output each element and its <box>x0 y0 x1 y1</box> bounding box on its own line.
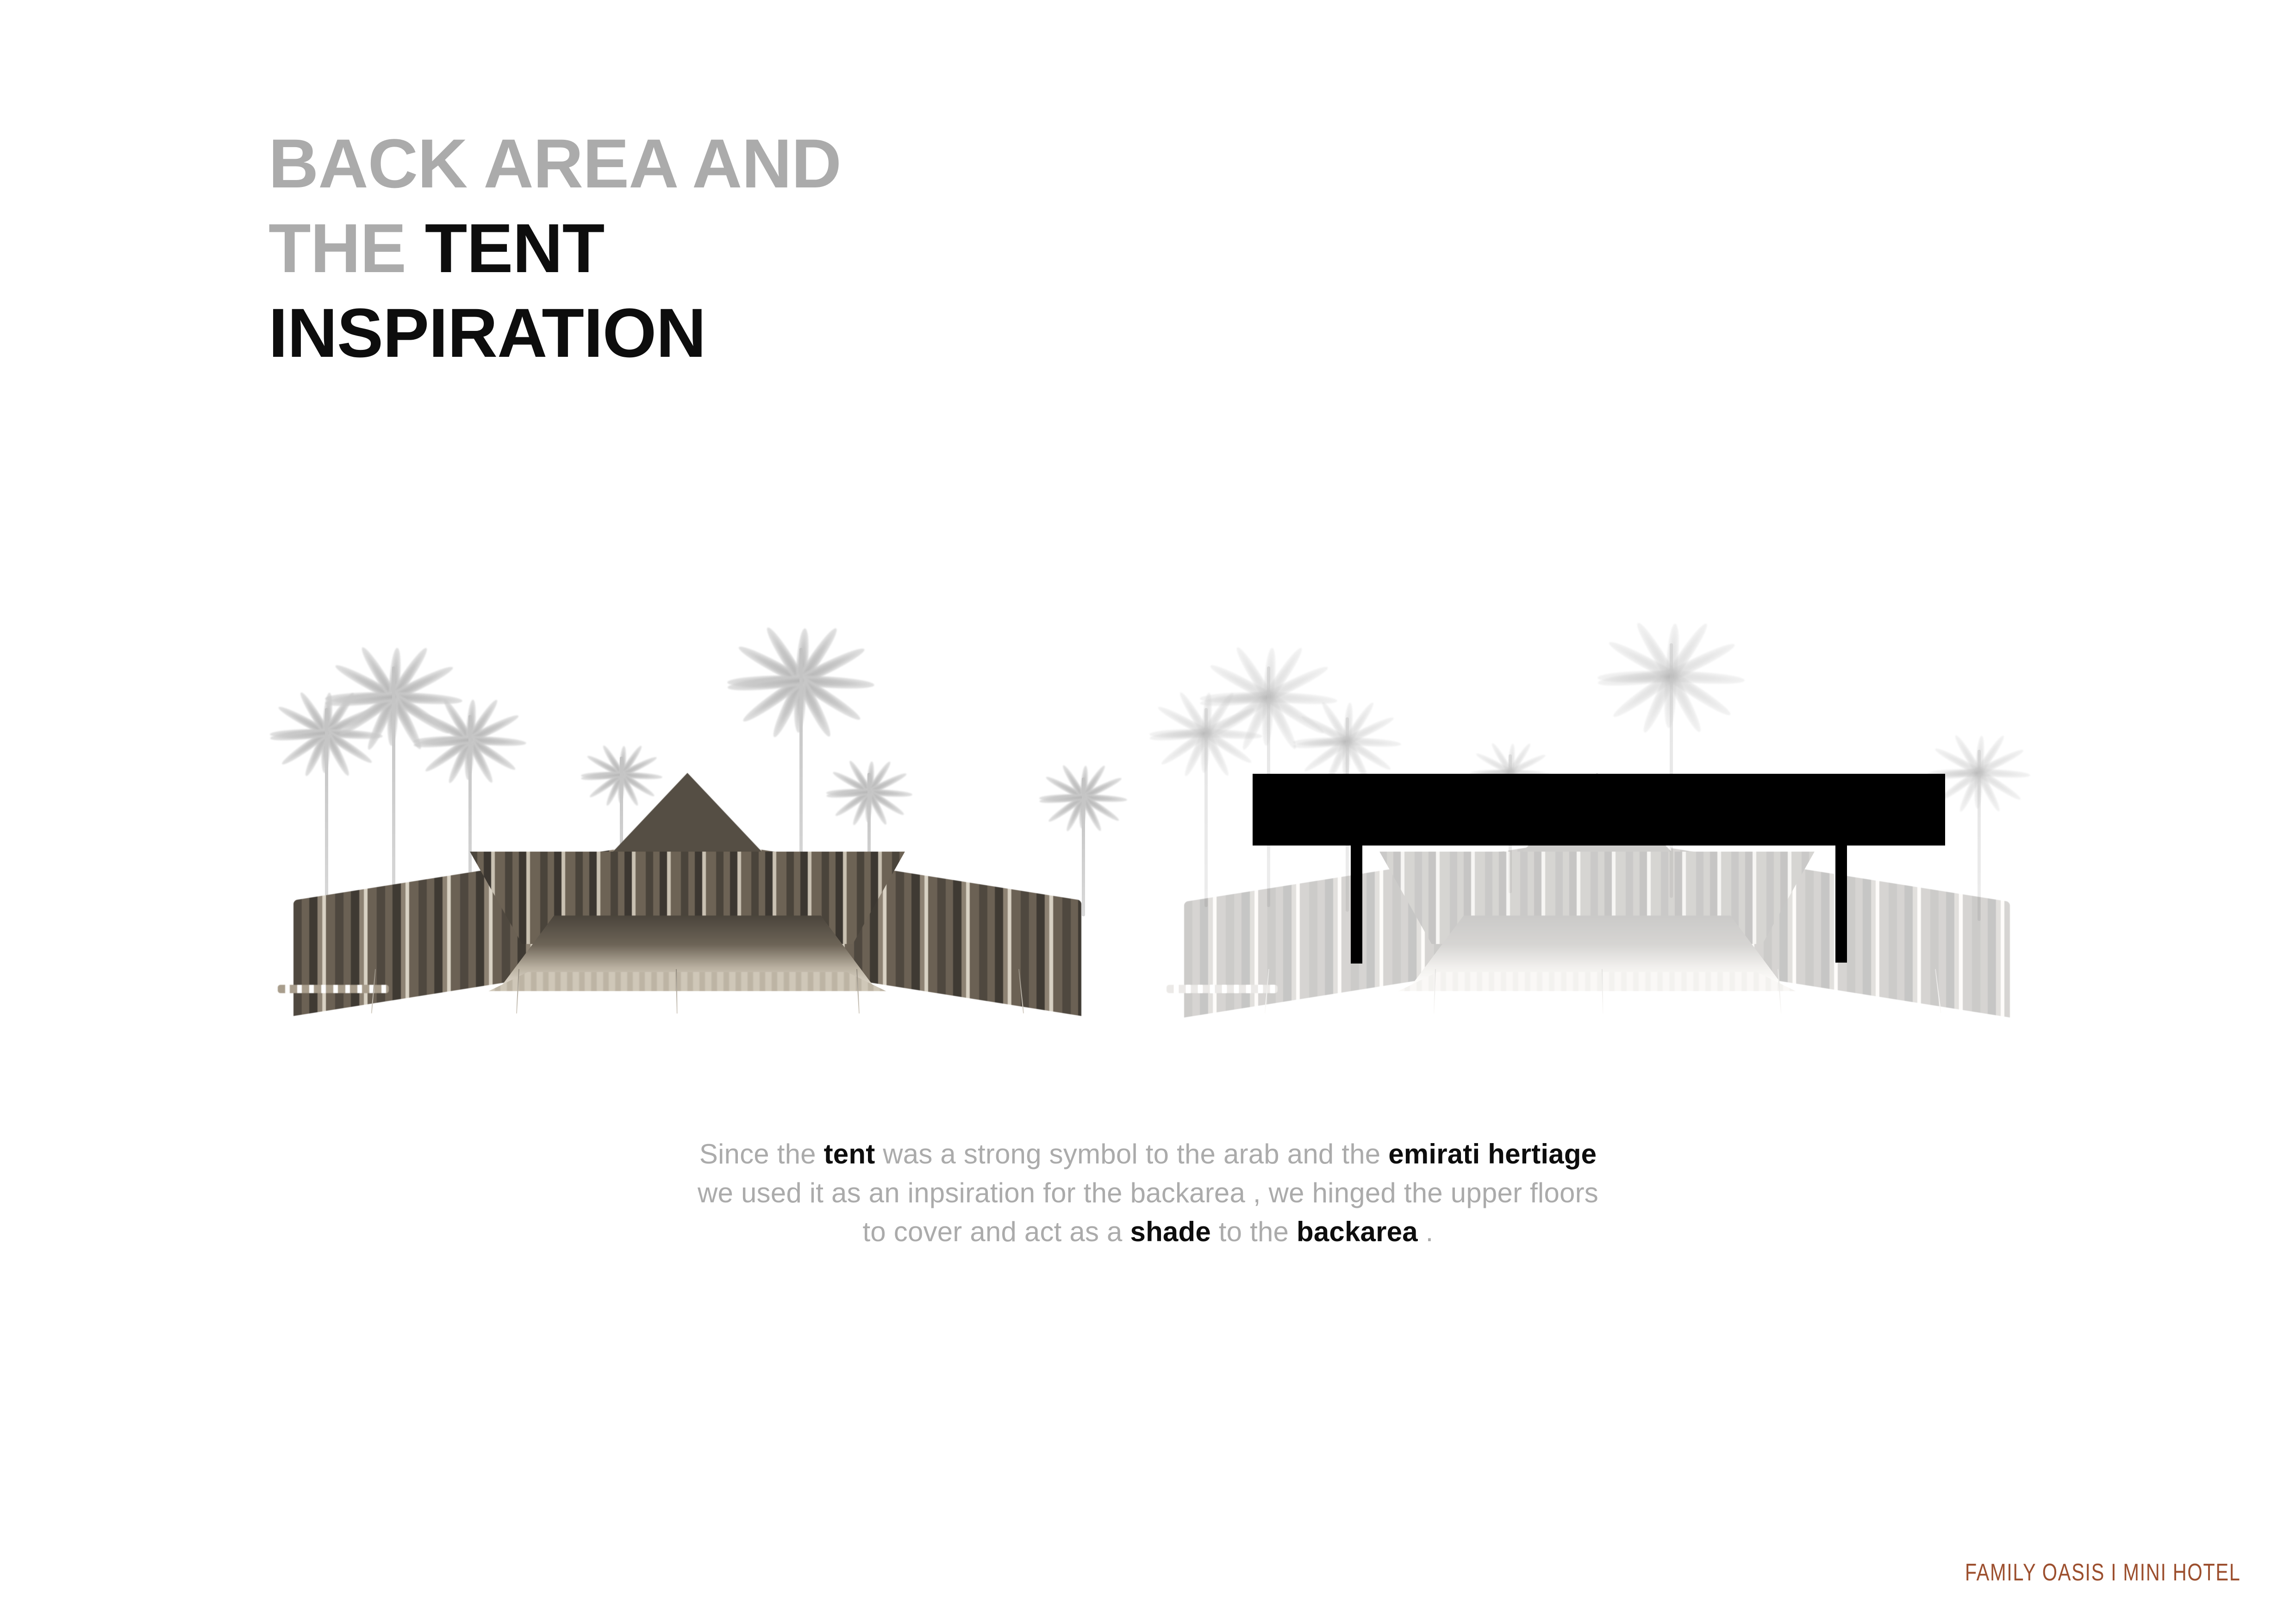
body-line-3: to cover and act as a shade to the backa… <box>407 1213 1889 1251</box>
title-line-1-text: BACK AREA AND <box>268 124 841 202</box>
body-keyword-backarea: backarea <box>1297 1216 1418 1247</box>
tent-peg-row-left <box>1167 985 1278 993</box>
body-line-3-seg-e: . <box>1418 1216 1434 1247</box>
body-line-1: Since the tent was a strong symbol to th… <box>407 1135 1889 1174</box>
body-line-3-seg-c: to the <box>1211 1216 1297 1247</box>
shade-slab-overlay <box>1253 774 1945 846</box>
body-keyword-emirati-heritage: emirati hertiage <box>1388 1138 1597 1169</box>
shade-column-left <box>1351 846 1362 964</box>
title-line-2: THE TENT <box>268 206 1055 291</box>
body-line-1-seg-c: was a strong symbol to the arab and the <box>875 1138 1388 1169</box>
tent-floor <box>1398 972 1796 991</box>
body-line-3-seg-a: to cover and act as a <box>862 1216 1130 1247</box>
title-line-1: BACK AREA AND <box>268 121 1055 206</box>
body-keyword-shade: shade <box>1130 1216 1211 1247</box>
title-line-3: INSPIRATION <box>268 291 1055 375</box>
image-zone <box>0 639 2296 1014</box>
tent-floor <box>488 972 886 991</box>
bedouin-tent-illustration <box>259 639 1116 1014</box>
tent-peg-row-left <box>278 985 389 993</box>
title-line-2-grey-text: THE <box>268 209 425 287</box>
body-line-2: we used it as an inpsiration for the bac… <box>407 1174 1889 1213</box>
presentation-slide: BACK AREA AND THE TENT INSPIRATION <box>0 0 2296 1623</box>
title-line-3-text: INSPIRATION <box>268 294 706 372</box>
shade-column-right <box>1835 846 1847 963</box>
body-keyword-tent: tent <box>824 1138 875 1169</box>
body-paragraph: Since the tent was a strong symbol to th… <box>407 1135 1889 1251</box>
body-line-1-seg-a: Since the <box>699 1138 824 1169</box>
tent-reference-image <box>259 639 1116 1014</box>
title-line-2-black-text: TENT <box>425 209 605 287</box>
footer-branding: FAMILY OASIS I MINI HOTEL <box>1965 1559 2240 1586</box>
page-title: BACK AREA AND THE TENT INSPIRATION <box>268 121 1055 375</box>
